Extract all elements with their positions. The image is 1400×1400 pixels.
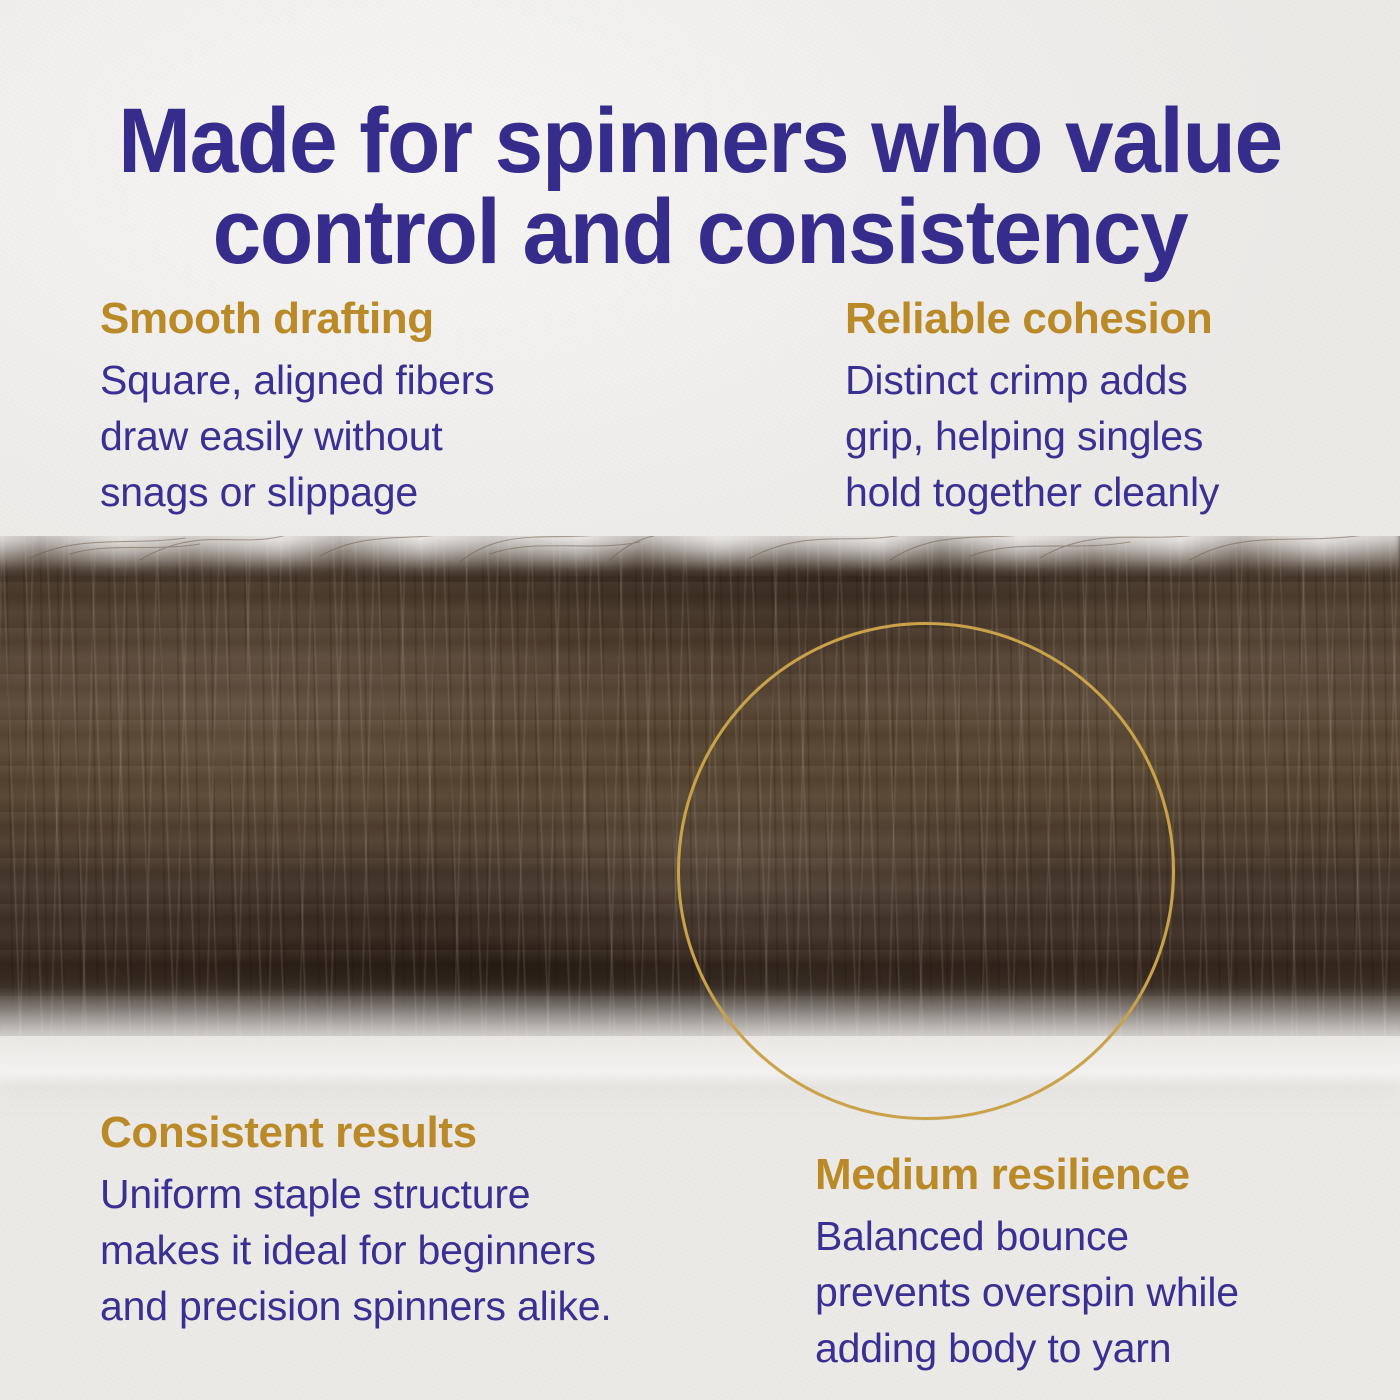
feature-title: Smooth drafting <box>100 296 494 342</box>
headline-line-1: Made for spinners who value <box>35 96 1365 187</box>
feature-body: Square, aligned fibers draw easily witho… <box>100 353 494 520</box>
feature-body-line: and precision spinners alike. <box>100 1279 612 1335</box>
feature-body-line: draw easily without <box>100 409 494 465</box>
feature-body-line: Balanced bounce <box>815 1209 1239 1265</box>
feature-body-line: Square, aligned fibers <box>100 353 494 409</box>
feature-body-line: hold together cleanly <box>845 465 1219 521</box>
feature-body: Uniform staple structure makes it ideal … <box>100 1167 612 1334</box>
page-title: Made for spinners who value control and … <box>35 96 1365 278</box>
headline-line-2: control and consistency <box>35 187 1365 278</box>
feature-consistent-results: Consistent results Uniform staple struct… <box>100 1110 612 1334</box>
feature-body-line: adding body to yarn <box>815 1321 1239 1377</box>
feature-body-line: makes it ideal for beginners <box>100 1223 612 1279</box>
feature-title: Medium resilience <box>815 1152 1239 1198</box>
feature-title: Reliable cohesion <box>845 296 1219 342</box>
feature-body-line: Distinct crimp adds <box>845 353 1219 409</box>
circle-highlight-annotation <box>677 622 1175 1120</box>
feature-body-line: Uniform staple structure <box>100 1167 612 1223</box>
feature-reliable-cohesion: Reliable cohesion Distinct crimp adds gr… <box>845 296 1219 520</box>
wool-bottom-edge-blend <box>0 984 1400 1080</box>
feature-body: Balanced bounce prevents overspin while … <box>815 1209 1239 1376</box>
feature-medium-resilience: Medium resilience Balanced bounce preven… <box>815 1152 1239 1376</box>
feature-smooth-drafting: Smooth drafting Square, aligned fibers d… <box>100 296 494 520</box>
feature-title: Consistent results <box>100 1110 612 1156</box>
product-feature-poster: Made for spinners who value control and … <box>0 0 1400 1400</box>
feature-body: Distinct crimp adds grip, helping single… <box>845 353 1219 520</box>
feature-body-line: grip, helping singles <box>845 409 1219 465</box>
feature-body-line: prevents overspin while <box>815 1265 1239 1321</box>
feature-body-line: snags or slippage <box>100 465 494 521</box>
